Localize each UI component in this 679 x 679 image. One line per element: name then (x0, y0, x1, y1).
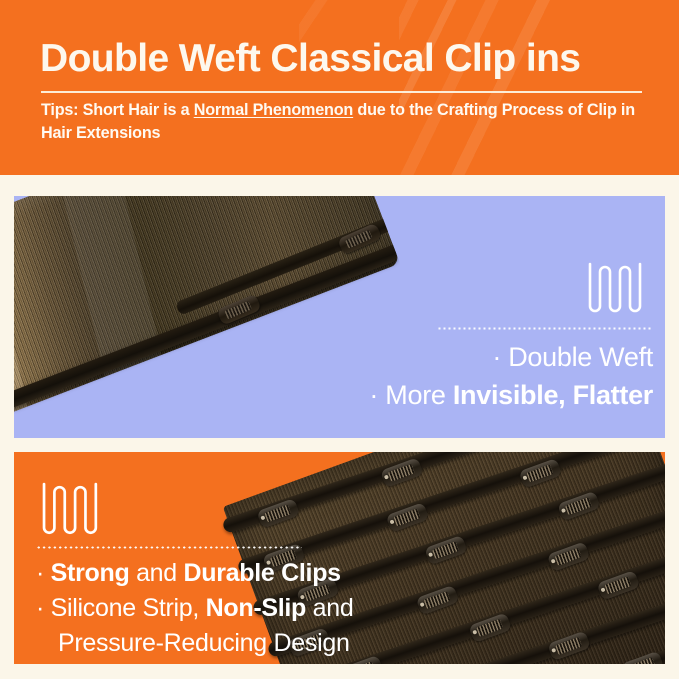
weft-wave-icon (38, 482, 106, 545)
feature-bullet-silicone-strip: · Silicone Strip, Non-Slip and (36, 591, 456, 626)
bullet-prefix: · Silicone Strip, (36, 594, 206, 622)
feature-list-blue: · Double Weft · More Invisible, Flatter (223, 338, 653, 414)
subtitle-emphasis: Normal Phenomenon (194, 101, 353, 119)
feature-bullet-strong-durable: · Strong and Durable Clips (36, 556, 456, 591)
feature-bullet-invisible-flatter: · More Invisible, Flatter (223, 376, 653, 414)
header-banner: Double Weft Classical Clip ins Tips: Sho… (0, 0, 679, 175)
bullet-text-and: and (129, 559, 183, 587)
feature-bullet-double-weft: · Double Weft (223, 338, 653, 376)
bullet-prefix: · More (369, 380, 452, 410)
feature-bullet-pressure-reducing: Pressure-Reducing Design (36, 626, 456, 661)
dotted-divider (36, 546, 302, 549)
bullet-suffix: and (306, 594, 353, 622)
weft-wave-icon (585, 262, 649, 323)
title-divider (41, 91, 642, 93)
infographic-page: Double Weft Classical Clip ins Tips: Sho… (0, 0, 679, 679)
bullet-marker: · (36, 559, 51, 587)
light-rays-decoration (399, 0, 679, 175)
feature-panel-clips: · Strong and Durable Clips · Silicone St… (14, 452, 665, 664)
feature-list-orange: · Strong and Durable Clips · Silicone St… (36, 556, 456, 661)
bullet-emphasis-strong: Strong (51, 559, 130, 587)
subtitle-text-before: Tips: Short Hair is a (41, 101, 194, 119)
header-subtitle: Tips: Short Hair is a Normal Phenomenon … (41, 99, 641, 145)
bullet-emphasis-non-slip: Non-Slip (206, 594, 306, 622)
bullet-emphasis: Invisible, Flatter (453, 380, 653, 410)
feature-panel-double-weft: · Double Weft · More Invisible, Flatter (14, 196, 665, 438)
page-title: Double Weft Classical Clip ins (40, 36, 650, 82)
dotted-divider (437, 327, 651, 330)
bullet-emphasis-durable-clips: Durable Clips (184, 559, 341, 587)
